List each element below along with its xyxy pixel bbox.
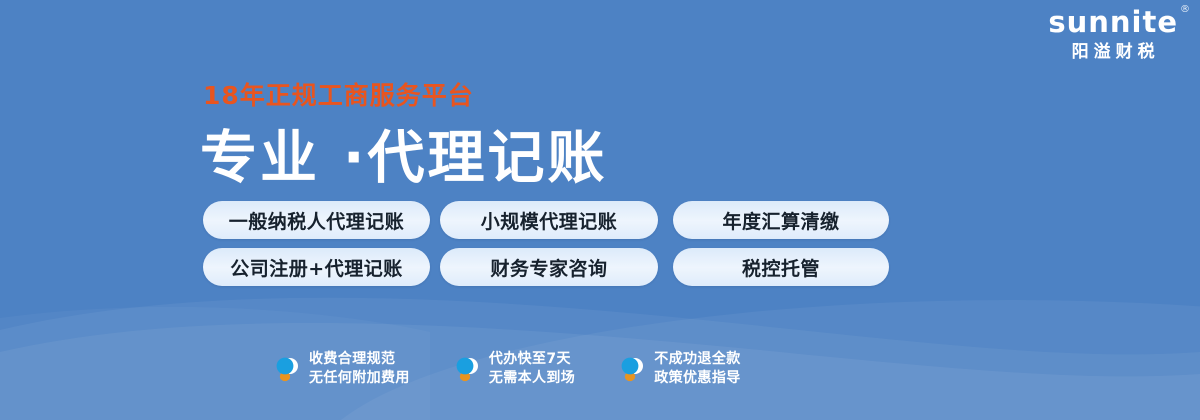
service-pill-expert-consulting[interactable]: 财务专家咨询 [440,248,658,286]
feature-item-pricing: 收费合理规范 无任何附加费用 [274,350,410,388]
dot-badge-icon [619,354,645,384]
feature-line-2: 无任何附加费用 [309,370,410,386]
service-pill-grid: 一般纳税人代理记账 小规模代理记账 年度汇算清缴 公司注册+代理记账 财务专家咨… [203,201,889,286]
feature-item-text: 代办快至7天 无需本人到场 [489,350,575,388]
feature-line-2: 政策优惠指导 [654,370,740,386]
service-pill-annual-settlement[interactable]: 年度汇算清缴 [673,201,889,239]
promo-banner: sunnite® 阳溢财税 18年正规工商服务平台 专业 ·代理记账 一般纳税人… [0,0,1200,420]
hero-title: 专业 ·代理记账 [200,112,608,194]
brand-logo-chinese-name: 阳溢财税 [1048,44,1178,61]
service-pill-general-taxpayer[interactable]: 一般纳税人代理记账 [203,201,430,239]
feature-item-text: 收费合理规范 无任何附加费用 [309,350,410,388]
service-pill-tax-control-hosting[interactable]: 税控托管 [673,248,889,286]
dot-badge-icon [274,354,300,384]
registered-trademark-icon: ® [1180,5,1191,15]
feature-line-1: 不成功退全款 [654,351,740,367]
brand-logo-wordmark: sunnite® [1048,8,1178,37]
service-pill-row: 一般纳税人代理记账 小规模代理记账 年度汇算清缴 [203,201,889,239]
brand-logo: sunnite® 阳溢财税 [1048,8,1178,61]
feature-item-speed: 代办快至7天 无需本人到场 [454,350,575,388]
service-pill-row: 公司注册+代理记账 财务专家咨询 税控托管 [203,248,889,286]
feature-line-1: 收费合理规范 [309,351,395,367]
feature-list: 收费合理规范 无任何附加费用 代办快至7天 无需本人到场 [274,350,741,388]
feature-item-guarantee: 不成功退全款 政策优惠指导 [619,350,740,388]
hero-tagline: 18年正规工商服务平台 [203,76,474,112]
feature-line-2: 无需本人到场 [489,370,575,386]
service-pill-company-registration[interactable]: 公司注册+代理记账 [203,248,430,286]
service-pill-small-scale[interactable]: 小规模代理记账 [440,201,658,239]
feature-line-1: 代办快至7天 [489,351,571,367]
feature-item-text: 不成功退全款 政策优惠指导 [654,350,740,388]
dot-badge-icon [454,354,480,384]
